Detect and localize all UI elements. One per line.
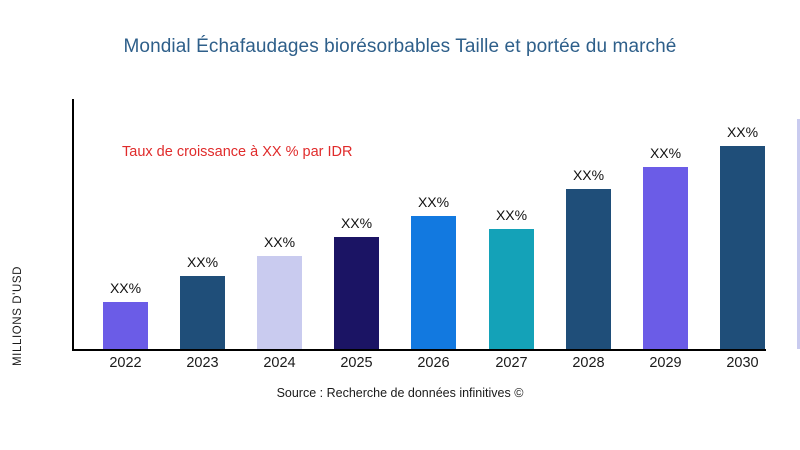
- bar-value-label-2024: XX%: [245, 234, 314, 250]
- bar-value-label-2022: XX%: [91, 280, 160, 296]
- bar-value-label-2031: XX%: [785, 97, 800, 113]
- x-tick-label-2031: 2031: [783, 355, 800, 371]
- growth-rate-annotation: Taux de croissance à XX % par IDR: [122, 144, 353, 160]
- bar-2022[interactable]: [103, 302, 148, 349]
- bar-value-label-2023: XX%: [168, 254, 237, 270]
- bar-2028[interactable]: [566, 189, 611, 349]
- bar-value-label-2029: XX%: [631, 145, 700, 161]
- bar-value-label-2027: XX%: [477, 207, 546, 223]
- x-tick-label-2026: 2026: [397, 355, 470, 371]
- bar-2030[interactable]: [720, 146, 765, 349]
- x-tick-label-2028: 2028: [552, 355, 625, 371]
- plot-area: XX%2022XX%2023XX%2024XX%2025XX%2026XX%20…: [0, 0, 800, 450]
- chart-container: Mondial Échafaudages biorésorbables Tail…: [0, 0, 800, 450]
- bar-2025[interactable]: [334, 237, 379, 349]
- bar-value-label-2030: XX%: [708, 124, 777, 140]
- bar-value-label-2028: XX%: [554, 167, 623, 183]
- bar-value-label-2026: XX%: [399, 194, 468, 210]
- bar-2023[interactable]: [180, 276, 225, 349]
- x-tick-label-2023: 2023: [166, 355, 239, 371]
- bar-2027[interactable]: [489, 229, 534, 349]
- bar-2026[interactable]: [411, 216, 456, 349]
- x-tick-label-2029: 2029: [629, 355, 702, 371]
- bar-2024[interactable]: [257, 256, 302, 349]
- x-tick-label-2025: 2025: [320, 355, 393, 371]
- bar-2029[interactable]: [643, 167, 688, 349]
- bar-value-label-2025: XX%: [322, 215, 391, 231]
- x-tick-label-2022: 2022: [89, 355, 162, 371]
- x-tick-label-2030: 2030: [706, 355, 779, 371]
- x-tick-label-2024: 2024: [243, 355, 316, 371]
- source-caption: Source : Recherche de données infinitive…: [0, 386, 800, 400]
- x-tick-label-2027: 2027: [475, 355, 548, 371]
